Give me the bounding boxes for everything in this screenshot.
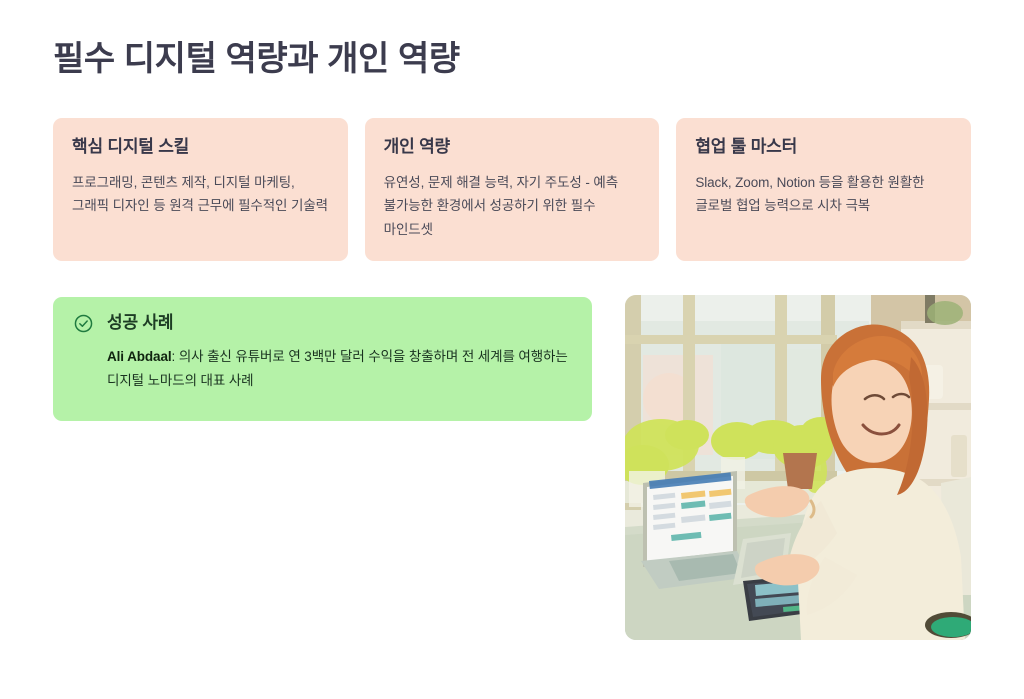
- skill-card: 개인 역량 유연성, 문제 해결 능력, 자기 주도성 - 예측 불가능한 환경…: [365, 118, 660, 261]
- success-callout: 성공 사례 Ali Abdaal: 의사 출신 유튜버로 연 3백만 달러 수익…: [53, 297, 592, 421]
- skill-card-title: 개인 역량: [384, 136, 641, 158]
- success-person-name: Ali Abdaal: [107, 349, 172, 364]
- skill-card: 핵심 디지털 스킬 프로그래밍, 콘텐츠 제작, 디지털 마케팅, 그래픽 디자…: [53, 118, 348, 261]
- success-header: 성공 사례: [73, 313, 572, 334]
- success-title: 성공 사례: [107, 313, 173, 333]
- slide-root: 필수 디지털 역량과 개인 역량 핵심 디지털 스킬 프로그래밍, 콘텐츠 제작…: [0, 0, 1024, 699]
- skill-card-title: 핵심 디지털 스킬: [72, 136, 329, 158]
- check-circle-icon: [73, 313, 94, 334]
- skill-card-body: 유연성, 문제 해결 능력, 자기 주도성 - 예측 불가능한 환경에서 성공하…: [384, 171, 641, 241]
- workspace-photo: 0: [625, 295, 971, 640]
- skill-card-body: 프로그래밍, 콘텐츠 제작, 디지털 마케팅, 그래픽 디자인 등 원격 근무에…: [72, 171, 329, 217]
- success-body: Ali Abdaal: 의사 출신 유튜버로 연 3백만 달러 수익을 창출하며…: [107, 345, 572, 393]
- page-title: 필수 디지털 역량과 개인 역량: [53, 38, 460, 82]
- skill-card-body: Slack, Zoom, Notion 등을 활용한 원활한 글로벌 협업 능력…: [695, 171, 952, 217]
- skill-card: 협업 툴 마스터 Slack, Zoom, Notion 등을 활용한 원활한 …: [676, 118, 971, 261]
- skill-card-title: 협업 툴 마스터: [695, 136, 952, 158]
- skill-card-row: 핵심 디지털 스킬 프로그래밍, 콘텐츠 제작, 디지털 마케팅, 그래픽 디자…: [53, 118, 971, 261]
- success-body-text: : 의사 출신 유튜버로 연 3백만 달러 수익을 창출하며 전 세계를 여행하…: [107, 349, 568, 388]
